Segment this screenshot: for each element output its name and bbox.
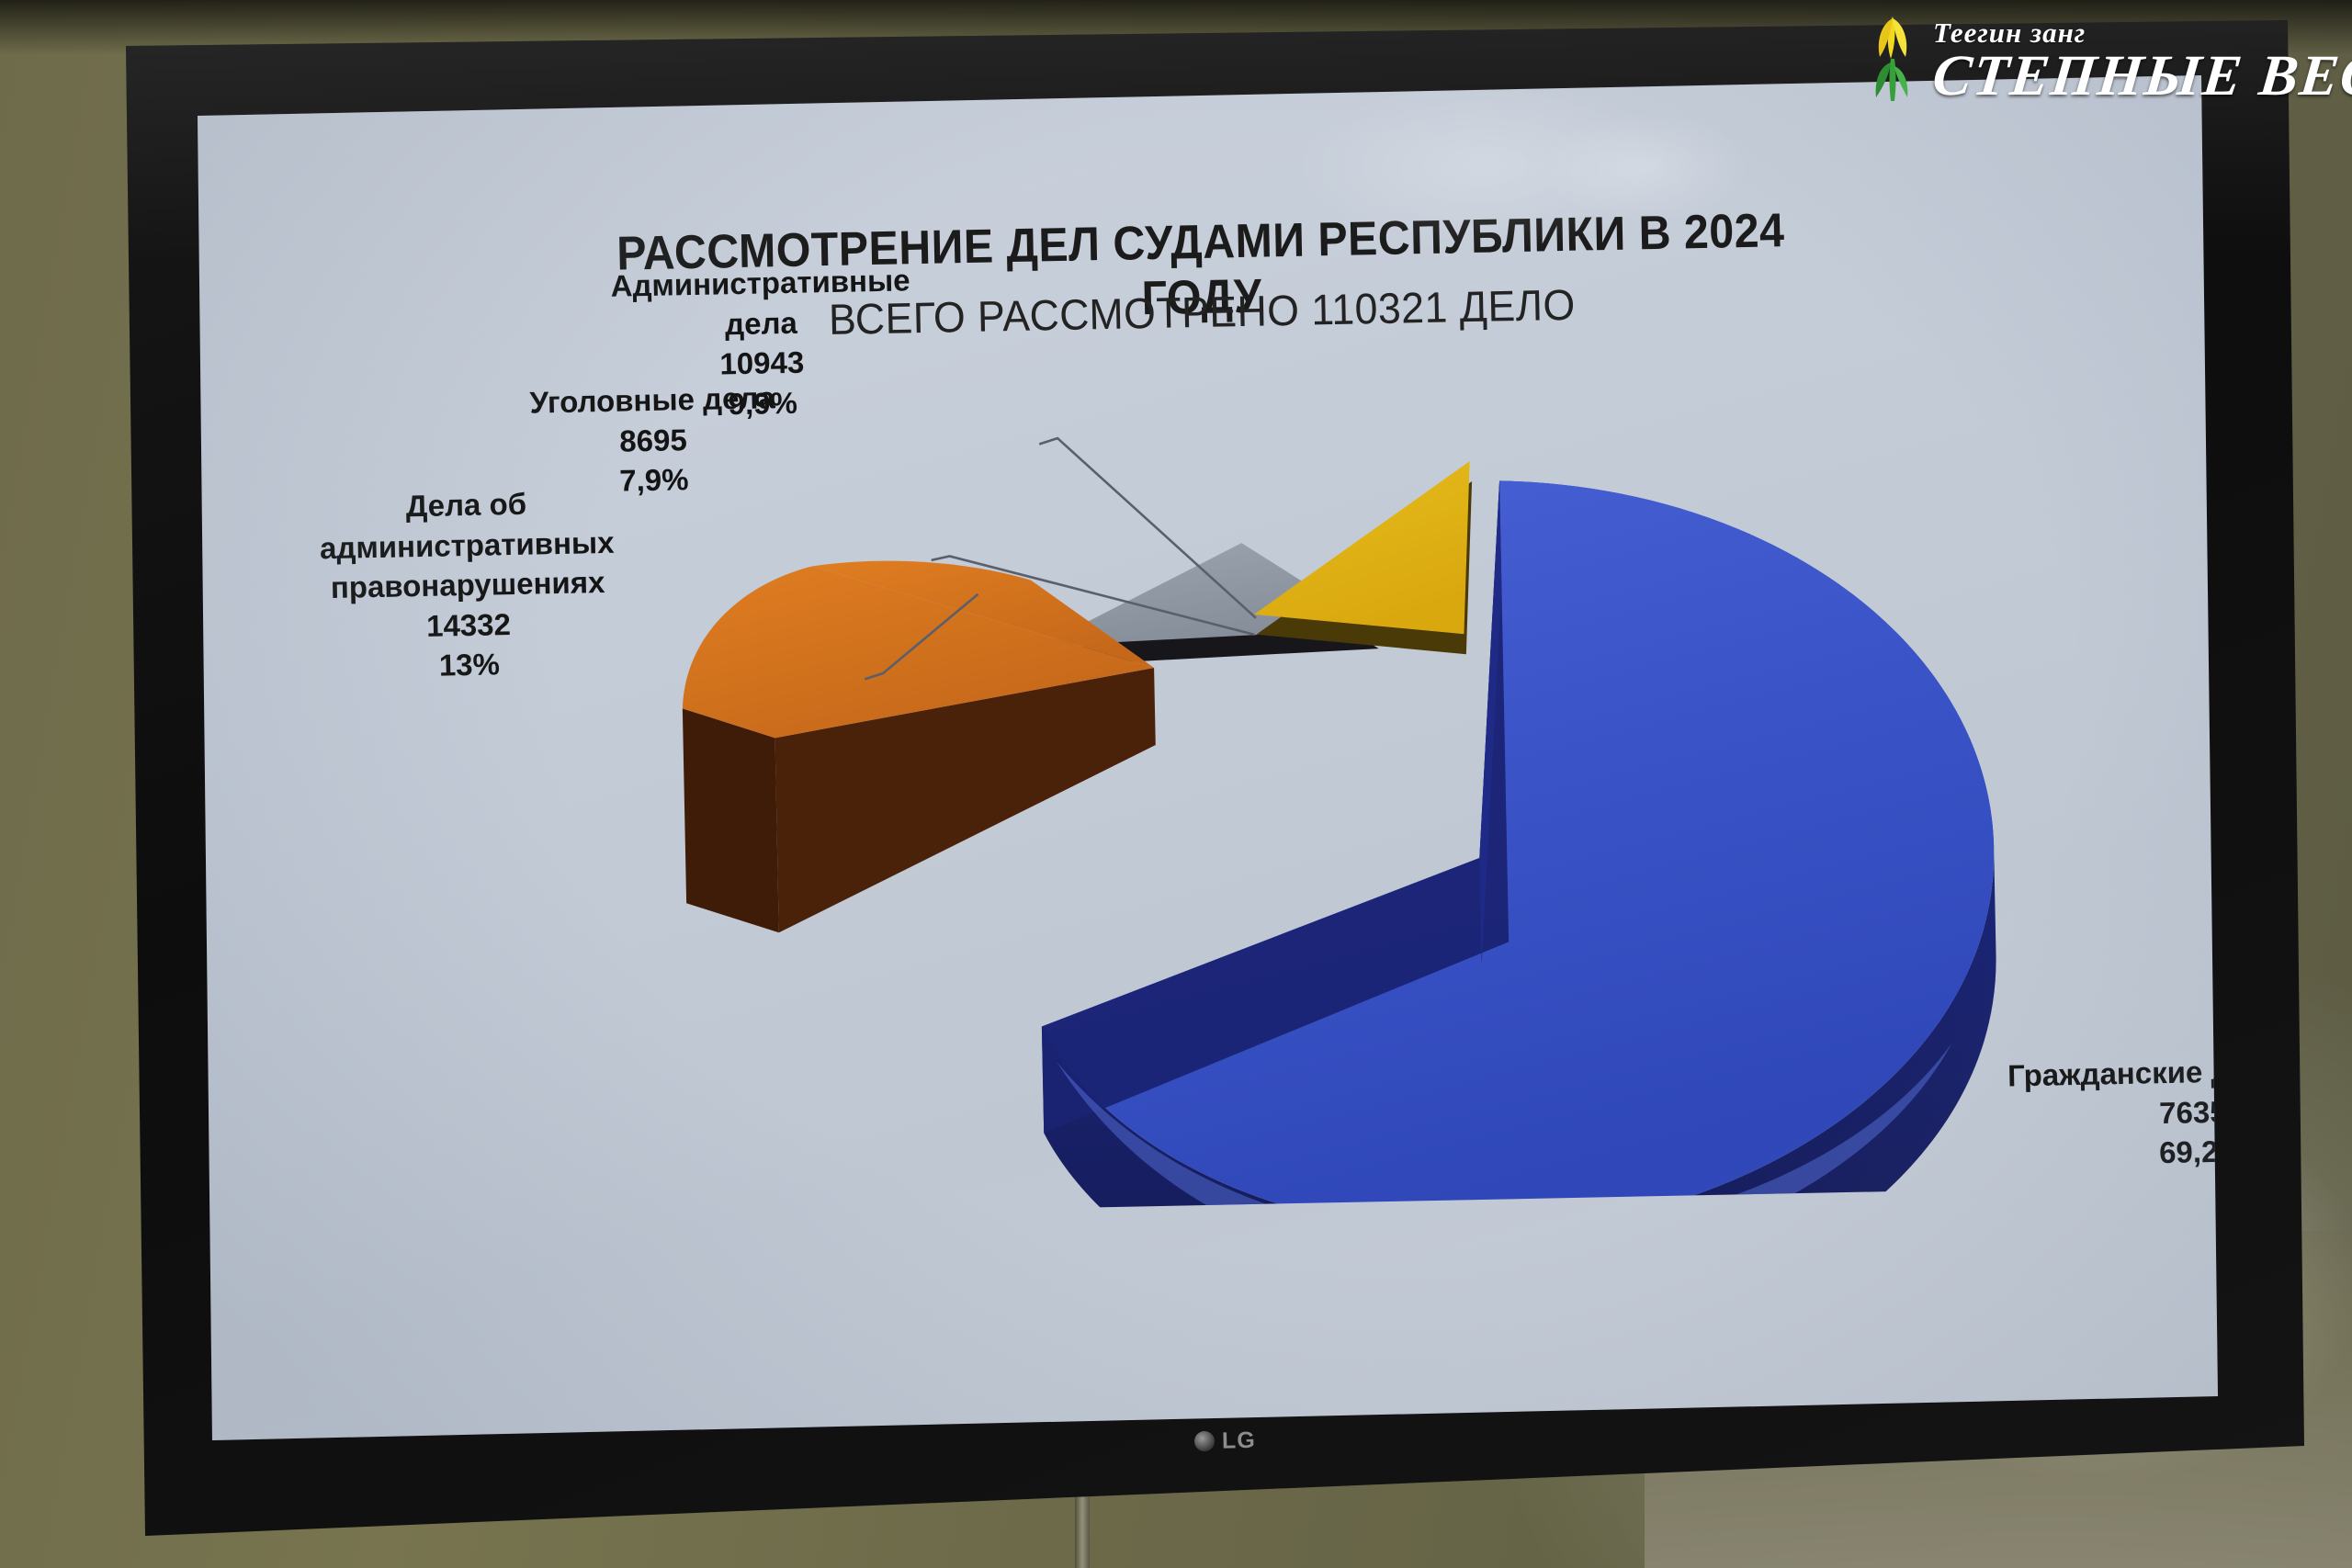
- television: РАССМОТРЕНИЕ ДЕЛ СУДАМИ РЕСПУБЛИКИ В 202…: [0, 0, 2352, 1568]
- lg-wordmark: LG: [1222, 1427, 1256, 1454]
- slide-content: РАССМОТРЕНИЕ ДЕЛ СУДАМИ РЕСПУБЛИКИ В 202…: [94, 0, 2320, 1558]
- watermark-main-name: СТЕПНЫЕ ВЕСТИ: [1929, 42, 2352, 109]
- screen-vignette: [94, 0, 2320, 1558]
- lg-logo-icon: LG: [1194, 1421, 1306, 1461]
- lg-circle-icon: [1194, 1431, 1215, 1451]
- tulip-icon: [1856, 6, 1929, 102]
- presentation-slide: РАССМОТРЕНИЕ ДЕЛ СУДАМИ РЕСПУБЛИКИ В 202…: [108, 20, 2304, 1536]
- watermark: Теегин зaнг СТЕПНЫЕ ВЕСТИ: [1856, 2, 2343, 105]
